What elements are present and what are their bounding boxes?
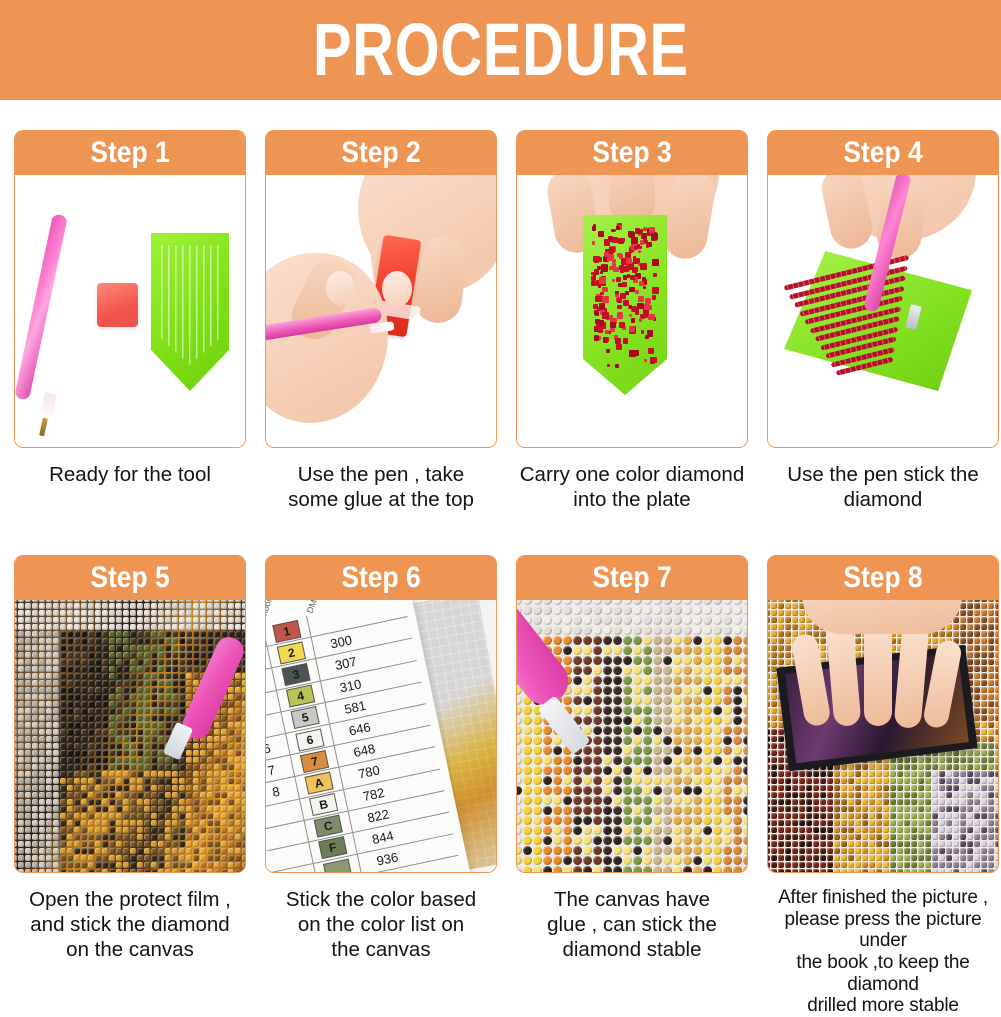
step-image-5 xyxy=(15,600,245,872)
caption-line: the canvas xyxy=(265,937,497,962)
step-cell-1: Step 1 Ready for the tool xyxy=(14,130,246,512)
step-cell-8: Step 8 After finished the picture , plea… xyxy=(767,555,999,1017)
caption-line: Carry one color diamond xyxy=(516,462,748,487)
caption-line: Stick the color based xyxy=(265,887,497,912)
caption-line: Use the pen stick the xyxy=(767,462,999,487)
step-image-6: SerialSymbolDMC1122300333074431055581666… xyxy=(266,600,496,872)
step-header-label-2: Step 2 xyxy=(341,138,420,168)
steps-row-top: Step 1 Ready for the tool Step 2 xyxy=(14,130,987,512)
step-cell-4: Step 4 Use the pen stick the diamond xyxy=(767,130,999,512)
step-image-2 xyxy=(266,175,496,447)
glue-square-illustration xyxy=(97,283,138,327)
step-header-label-6: Step 6 xyxy=(341,563,420,593)
step-cell-2: Step 2 Use the pen , take xyxy=(265,130,497,512)
step-caption-8: After finished the picture , please pres… xyxy=(767,887,999,1017)
step-header-label-8: Step 8 xyxy=(843,563,922,593)
step-cell-3: Step 3 Carry one color diamond into the … xyxy=(516,130,748,512)
step-image-7 xyxy=(517,600,747,872)
fingernail-illustration xyxy=(326,271,355,305)
step-caption-4: Use the pen stick the diamond xyxy=(767,462,999,512)
color-swatch: 6 xyxy=(295,728,324,751)
caption-line: please press the picture under xyxy=(767,909,999,952)
caption-line: on the color list on xyxy=(265,912,497,937)
step-caption-3: Carry one color diamond into the plate xyxy=(516,462,748,512)
step-image-4 xyxy=(768,175,998,447)
step-card-5[interactable]: Step 5 xyxy=(14,555,246,873)
caption-line: Use the pen , take xyxy=(265,462,497,487)
step-card-4[interactable]: Step 4 xyxy=(767,130,999,448)
step-caption-5: Open the protect film , and stick the di… xyxy=(14,887,246,962)
palm-illustration xyxy=(802,600,962,634)
color-swatch: F xyxy=(318,837,347,860)
step-card-2[interactable]: Step 2 xyxy=(265,130,497,448)
caption-line: diamond stable xyxy=(516,937,748,962)
steps-row-bottom: Step 5 Open the protect film , and stick… xyxy=(14,555,987,1017)
color-swatch: 2 xyxy=(277,641,306,664)
step-header-8: Step 8 xyxy=(768,556,998,600)
caption-line: into the plate xyxy=(516,487,748,512)
finger-illustration xyxy=(864,618,892,726)
color-swatch: 5 xyxy=(291,706,320,729)
step-header-label-1: Step 1 xyxy=(90,138,169,168)
step-header-7: Step 7 xyxy=(517,556,747,600)
caption-line: some glue at the top xyxy=(265,487,497,512)
color-swatch: 4 xyxy=(286,685,315,708)
procedure-grid: Step 1 Ready for the tool Step 2 xyxy=(0,130,1001,1017)
step-header-label-4: Step 4 xyxy=(843,138,922,168)
pen-illustration xyxy=(15,213,68,400)
step-caption-1: Ready for the tool xyxy=(14,462,246,487)
fingernail-illustration xyxy=(382,271,412,307)
step-card-6[interactable]: Step 6 SerialSymbolDMC112230033307443105… xyxy=(265,555,497,873)
caption-line: diamond xyxy=(767,487,999,512)
step-header-4: Step 4 xyxy=(768,131,998,175)
round-diamonds-illustration xyxy=(517,600,747,872)
color-swatch: 3 xyxy=(281,663,310,686)
step-caption-2: Use the pen , take some glue at the top xyxy=(265,462,497,512)
step-header-label-7: Step 7 xyxy=(592,563,671,593)
step-card-1[interactable]: Step 1 xyxy=(14,130,246,448)
step-header-1: Step 1 xyxy=(15,131,245,175)
caption-line: Open the protect film , xyxy=(14,887,246,912)
step-caption-7: The canvas have glue , can stick the dia… xyxy=(516,887,748,962)
caption-line: the book ,to keep the diamond xyxy=(767,952,999,995)
diamond-mosaic-illustration xyxy=(15,600,245,872)
step-caption-6: Stick the color based on the color list … xyxy=(265,887,497,962)
color-swatch: B xyxy=(309,793,338,816)
color-swatch: C xyxy=(314,815,343,838)
step-header-3: Step 3 xyxy=(517,131,747,175)
red-diamonds-illustration xyxy=(591,223,657,371)
step-header-6: Step 6 xyxy=(266,556,496,600)
step-image-1 xyxy=(15,175,245,447)
step-cell-6: Step 6 SerialSymbolDMC112230033307443105… xyxy=(265,555,497,1017)
caption-line: glue , can stick the xyxy=(516,912,748,937)
caption-line: on the canvas xyxy=(14,937,246,962)
caption-line: After finished the picture , xyxy=(767,887,999,909)
caption-line: The canvas have xyxy=(516,887,748,912)
step-header-label-3: Step 3 xyxy=(592,138,671,168)
page-title: PROCEDURE xyxy=(313,13,689,87)
page-banner: PROCEDURE xyxy=(0,0,1001,100)
color-swatch xyxy=(323,858,352,872)
caption-line: and stick the diamond xyxy=(14,912,246,937)
step-card-3[interactable]: Step 3 xyxy=(516,130,748,448)
step-header-5: Step 5 xyxy=(15,556,245,600)
step-card-8[interactable]: Step 8 xyxy=(767,555,999,873)
step-image-3 xyxy=(517,175,747,447)
pen-nib-illustration xyxy=(39,418,48,437)
color-swatch: 7 xyxy=(300,750,329,773)
step-cell-7: Step 7 The canvas have glue , can stick … xyxy=(516,555,748,1017)
step-card-7[interactable]: Step 7 xyxy=(516,555,748,873)
step-cell-5: Step 5 Open the protect film , and stick… xyxy=(14,555,246,1017)
step-header-2: Step 2 xyxy=(266,131,496,175)
step-header-label-5: Step 5 xyxy=(90,563,169,593)
caption-line: drilled more stable xyxy=(767,995,999,1017)
step-image-8 xyxy=(768,600,998,872)
color-swatch: A xyxy=(304,771,333,794)
